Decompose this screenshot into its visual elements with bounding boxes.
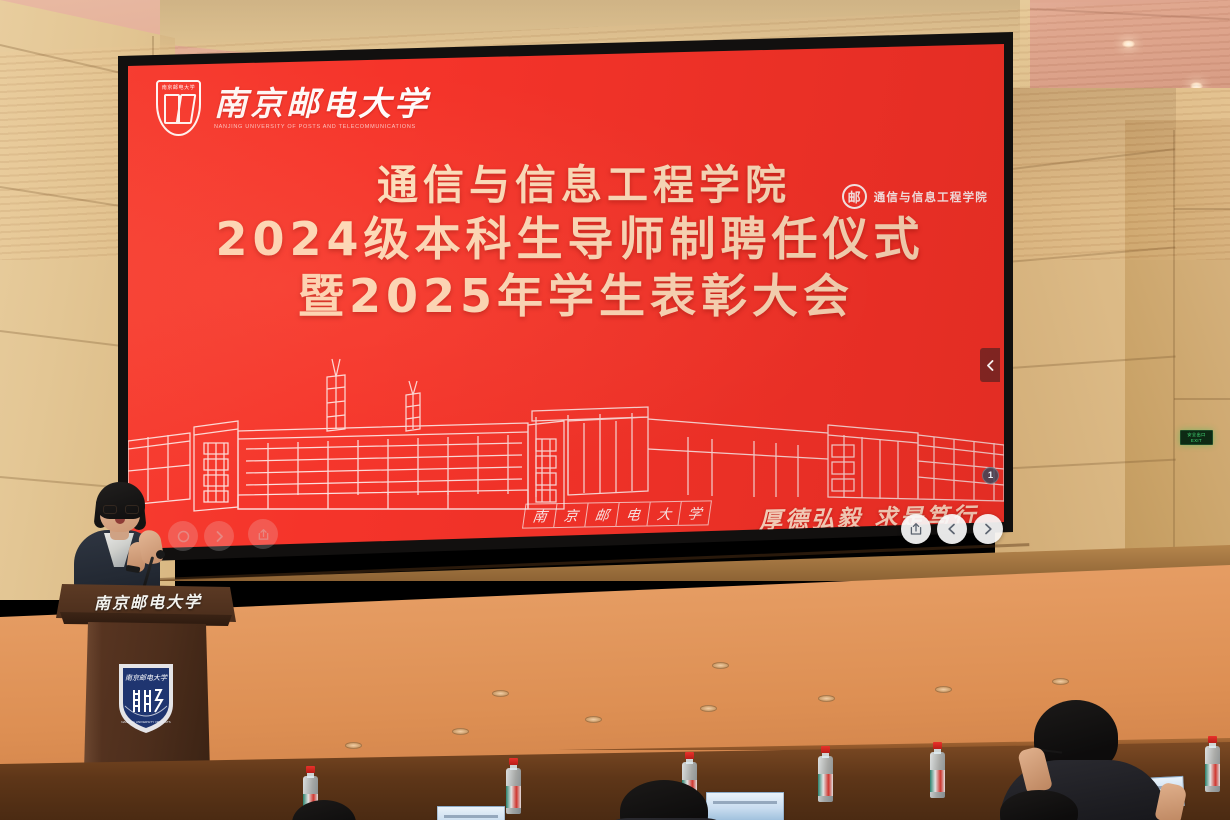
emergency-exit-sign: 安全出口 EXIT [1180, 430, 1213, 445]
podium-nameplate: 南京邮电大学 [78, 588, 218, 614]
share-icon [257, 528, 270, 541]
grid-char: 南 [522, 503, 557, 529]
ghost-share-button[interactable] [248, 519, 278, 549]
svg-text:NANJING UNIVERSITY OF POSTS: NANJING UNIVERSITY OF POSTS [121, 720, 170, 724]
bottle-cap [933, 742, 942, 749]
exit-sign-line2: EXIT [1191, 438, 1202, 443]
university-name-english: NANJING UNIVERSITY OF POSTS AND TELECOMM… [214, 124, 430, 130]
glasses-lens-left [103, 505, 117, 514]
glasses-lens-right [125, 505, 139, 514]
wall-seam [1174, 398, 1230, 400]
grid-char: 京 [553, 503, 588, 529]
university-logo: 南京邮电大学 南京邮电大学 NANJING UNIVERSITY OF POST… [156, 80, 430, 136]
grid-char: 大 [646, 501, 681, 527]
floor-outlet [452, 728, 469, 735]
ghost-next-button[interactable] [204, 521, 234, 551]
floor-outlet [700, 705, 717, 712]
speaker-glasses-icon [103, 505, 139, 514]
shield-emblem [164, 91, 194, 125]
water-bottle [1205, 736, 1220, 792]
panel-collapse-button[interactable] [980, 348, 1000, 382]
page-indicator-badge[interactable]: 1 [982, 467, 999, 484]
university-name: 南京邮电大学 [214, 87, 430, 120]
water-bottle [818, 746, 833, 802]
university-shield-icon: 南京邮电大学 [156, 80, 201, 136]
name-placard [437, 806, 505, 820]
floor-outlet [1052, 678, 1069, 685]
floor-outlet [345, 742, 362, 749]
bottle-label [818, 774, 833, 796]
conference-hall-photo: 安全出口 EXIT 南京邮电大学 南京邮电大学 NANJING UNIVERSI… [0, 0, 1230, 820]
share-icon [909, 522, 923, 536]
chevron-left-icon [985, 359, 996, 372]
previous-button[interactable] [937, 514, 967, 544]
ghost-circle-button[interactable] [168, 521, 198, 551]
circle-icon [177, 530, 190, 543]
bottle-label [1205, 764, 1220, 786]
share-button[interactable] [901, 514, 931, 544]
grid-char: 邮 [584, 502, 619, 528]
podium-crest-icon: 南京邮电大学 NANJING UNIVERSITY OF POSTS [113, 660, 179, 736]
floor-outlet [712, 662, 729, 669]
university-name-block: 南京邮电大学 NANJING UNIVERSITY OF POSTS AND T… [214, 87, 430, 130]
water-bottle [506, 758, 521, 814]
bottle-cap [509, 758, 518, 765]
bottle-cap [306, 766, 315, 773]
next-button[interactable] [973, 514, 1003, 544]
bottle-cap [821, 746, 830, 753]
title-line-1: 通信与信息工程学院 [146, 162, 1004, 209]
water-bottle [930, 742, 945, 798]
bottle-label [930, 770, 945, 792]
bottle-cap [1208, 736, 1217, 743]
floor-outlet [818, 695, 835, 702]
campus-name-grid: 南 京 邮 电 大 学 [522, 500, 712, 528]
floor-outlet [585, 716, 602, 723]
chevron-left-icon [945, 522, 959, 536]
title-line-2: 2024级本科生导师制聘任仪式 [132, 213, 1004, 265]
svg-text:南京邮电大学: 南京邮电大学 [125, 674, 168, 682]
name-placard [706, 792, 784, 820]
grid-char: 学 [677, 500, 712, 526]
bottle-label [506, 786, 521, 808]
chevron-right-icon [981, 522, 995, 536]
title-line-3: 暨2025年学生表彰大会 [138, 270, 1004, 322]
floor-outlet [492, 690, 509, 697]
floor-outlet [935, 686, 952, 693]
bottle-cap [685, 752, 694, 759]
shield-top-text: 南京邮电大学 [162, 84, 196, 91]
grid-char: 电 [615, 501, 650, 527]
chevron-right-icon [213, 530, 226, 543]
microphone-head [156, 550, 165, 559]
led-screen: 南京邮电大学 南京邮电大学 NANJING UNIVERSITY OF POST… [128, 44, 1004, 549]
event-title-block: 通信与信息工程学院 2024级本科生导师制聘任仪式 暨2025年学生表彰大会 [128, 162, 1004, 323]
